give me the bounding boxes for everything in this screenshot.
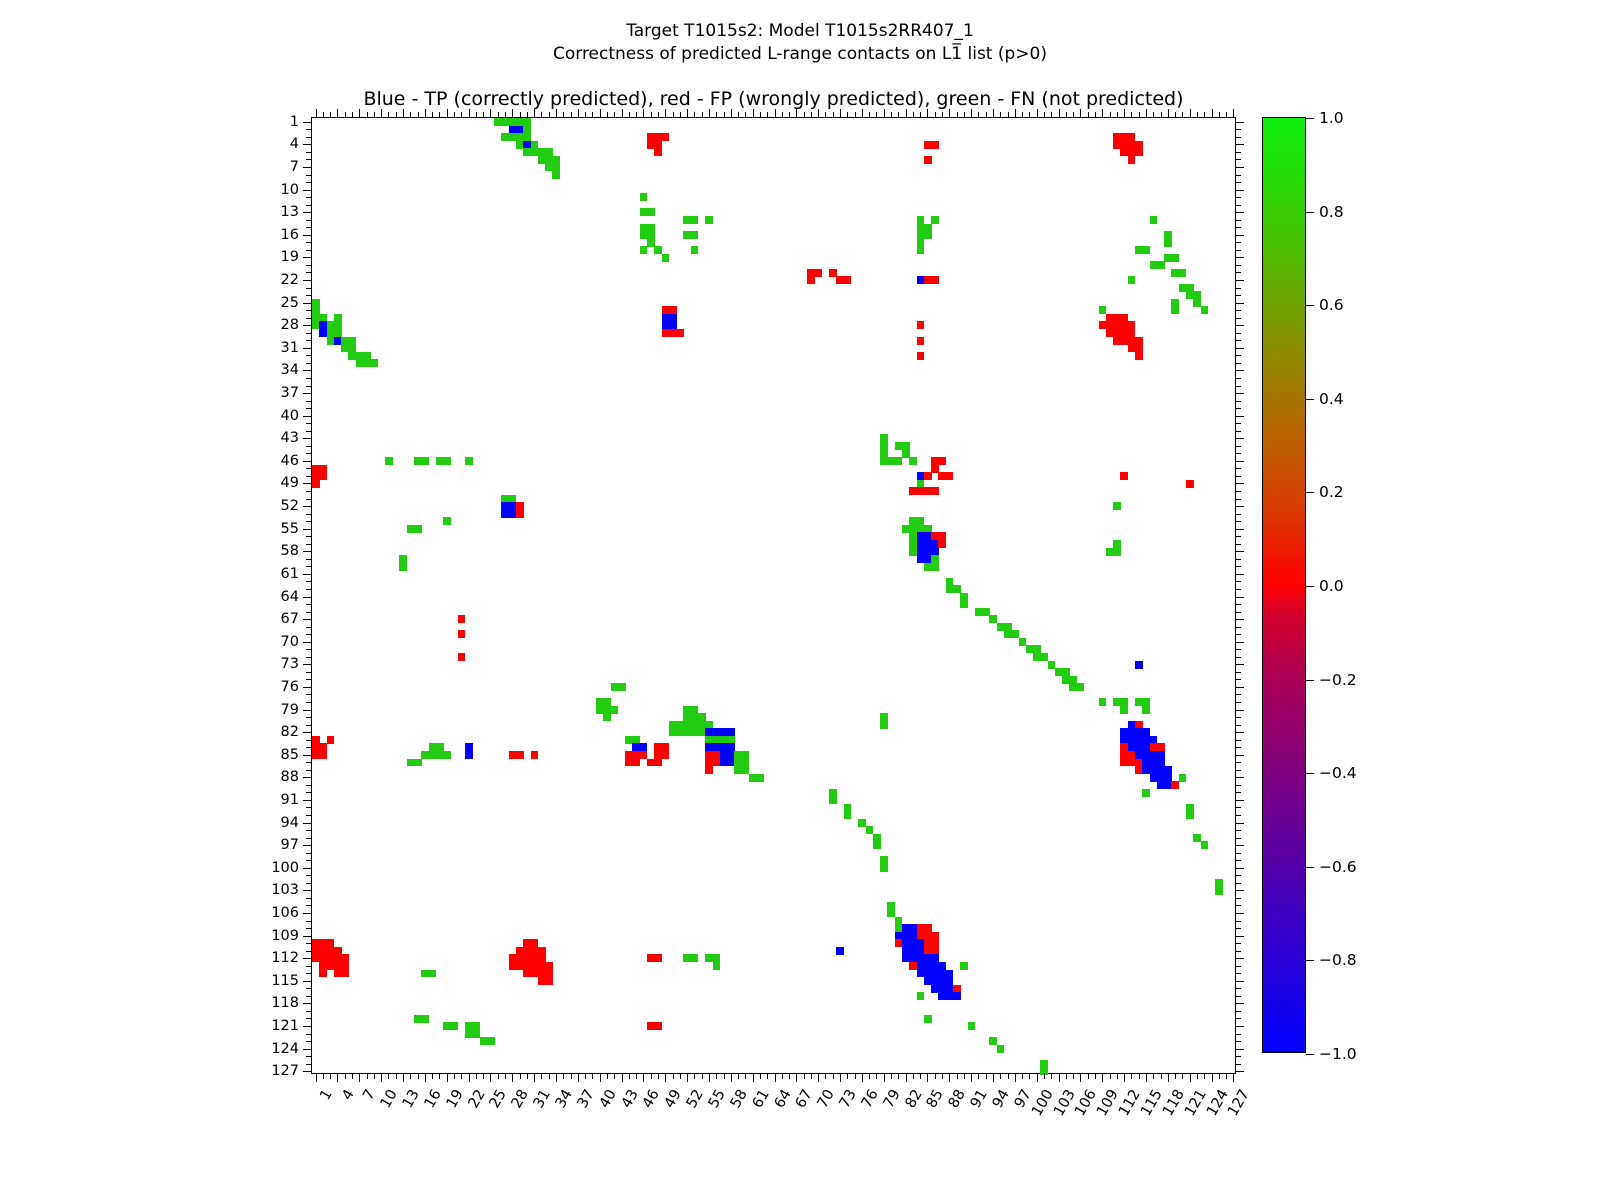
y-tick xyxy=(303,551,312,552)
y-tick-right xyxy=(1235,981,1244,982)
x-tick xyxy=(935,1073,936,1079)
x-tick xyxy=(775,1073,776,1082)
x-tick-top xyxy=(454,112,455,118)
fp-cell xyxy=(931,276,939,284)
fn-cell xyxy=(1142,789,1150,797)
y-tick-right xyxy=(1235,566,1241,567)
x-tick-top xyxy=(549,112,550,118)
fn-cell xyxy=(691,216,699,224)
fp-cell xyxy=(654,954,662,962)
y-tick-label: 112 xyxy=(229,950,299,966)
y-tick xyxy=(303,325,312,326)
fp-cell xyxy=(815,269,823,277)
x-tick-top xyxy=(1182,112,1183,118)
y-tick-right xyxy=(1235,235,1244,236)
x-tick-top xyxy=(1168,109,1169,118)
y-tick-right xyxy=(1235,845,1244,846)
x-tick xyxy=(636,1073,637,1079)
x-tick xyxy=(483,1073,484,1079)
x-tick xyxy=(1000,1073,1001,1079)
y-tick xyxy=(306,197,312,198)
fp-cell xyxy=(319,472,327,480)
y-tick-right xyxy=(1235,416,1244,417)
fp-cell xyxy=(917,321,925,329)
x-tick xyxy=(665,1073,666,1082)
x-tick xyxy=(964,1073,965,1079)
x-tick-top xyxy=(913,112,914,118)
y-tick-right xyxy=(1235,393,1244,394)
x-tick-top xyxy=(840,109,841,118)
y-tick-right xyxy=(1235,250,1241,251)
x-tick xyxy=(1066,1073,1067,1079)
y-tick xyxy=(303,416,312,417)
x-tick-top xyxy=(1037,109,1038,118)
x-tick xyxy=(709,1073,710,1082)
fn-cell xyxy=(1142,706,1150,714)
y-tick-right xyxy=(1235,167,1244,168)
y-tick xyxy=(303,1071,312,1072)
x-tick-top xyxy=(1212,109,1213,118)
x-tick-top xyxy=(432,112,433,118)
x-tick-top xyxy=(1088,112,1089,118)
y-tick-right xyxy=(1235,649,1241,650)
x-tick-top xyxy=(556,109,557,118)
y-tick-label: 58 xyxy=(229,543,299,559)
x-tick-top xyxy=(527,112,528,118)
y-tick xyxy=(306,491,312,492)
fp-cell xyxy=(516,751,524,759)
y-tick-label: 91 xyxy=(229,792,299,808)
y-tick-right xyxy=(1235,627,1241,628)
y-tick xyxy=(306,860,312,861)
x-tick xyxy=(345,1073,346,1079)
y-tick-label: 22 xyxy=(229,272,299,288)
y-tick-right xyxy=(1235,499,1241,500)
fp-cell xyxy=(1171,781,1179,789)
x-tick xyxy=(403,1073,404,1082)
x-tick xyxy=(986,1073,987,1079)
x-tick xyxy=(927,1073,928,1082)
x-tick-top xyxy=(745,112,746,118)
colorbar-tick-label: −0.4 xyxy=(1319,764,1357,782)
x-tick-top xyxy=(381,109,382,118)
x-tick-top xyxy=(1095,112,1096,118)
x-tick xyxy=(439,1073,440,1079)
y-tick xyxy=(306,559,312,560)
y-tick xyxy=(306,227,312,228)
y-tick xyxy=(306,453,312,454)
colorbar-tick xyxy=(1306,773,1314,774)
y-tick-right xyxy=(1235,597,1244,598)
fn-cell xyxy=(385,457,393,465)
y-tick-label: 82 xyxy=(229,724,299,740)
y-tick-label: 85 xyxy=(229,747,299,763)
colorbar-tick xyxy=(1306,399,1314,400)
x-tick-top xyxy=(927,109,928,118)
x-tick-top xyxy=(403,109,404,118)
colorbar-tick xyxy=(1306,118,1314,119)
fn-cell xyxy=(909,457,917,465)
x-tick xyxy=(454,1073,455,1079)
x-tick xyxy=(840,1073,841,1082)
tp-cell xyxy=(465,751,473,759)
x-tick xyxy=(818,1073,819,1082)
fp-cell xyxy=(938,540,946,548)
y-tick xyxy=(306,295,312,296)
y-tick xyxy=(306,853,312,854)
y-tick-right xyxy=(1235,928,1241,929)
fn-cell xyxy=(414,759,422,767)
y-tick-right xyxy=(1235,589,1241,590)
x-tick xyxy=(563,1073,564,1079)
x-tick xyxy=(855,1073,856,1079)
y-tick-label: 46 xyxy=(229,453,299,469)
y-tick xyxy=(303,144,312,145)
y-tick xyxy=(303,890,312,891)
x-tick-top xyxy=(1226,112,1227,118)
x-tick xyxy=(971,1073,972,1082)
y-tick xyxy=(303,823,312,824)
x-tick xyxy=(316,1073,317,1082)
fn-cell xyxy=(1179,269,1187,277)
tp-cell xyxy=(953,992,961,1000)
x-tick xyxy=(1219,1073,1220,1079)
fp-cell xyxy=(1120,472,1128,480)
x-tick-top xyxy=(673,112,674,118)
y-tick-right xyxy=(1235,1018,1241,1019)
y-tick-label: 61 xyxy=(229,566,299,582)
x-tick xyxy=(891,1073,892,1079)
colorbar-tick xyxy=(1306,492,1314,493)
x-tick xyxy=(898,1073,899,1079)
fn-cell xyxy=(1142,246,1150,254)
y-tick-right xyxy=(1235,551,1244,552)
fn-cell xyxy=(756,774,764,782)
y-tick-right xyxy=(1235,996,1241,997)
y-tick-right xyxy=(1235,830,1241,831)
x-tick xyxy=(1095,1073,1096,1079)
y-tick-right xyxy=(1235,1011,1241,1012)
x-tick xyxy=(1168,1073,1169,1082)
x-tick-top xyxy=(658,112,659,118)
x-tick-top xyxy=(884,109,885,118)
y-tick xyxy=(306,830,312,831)
x-tick xyxy=(716,1073,717,1079)
fn-cell xyxy=(443,751,451,759)
y-tick xyxy=(306,679,312,680)
y-tick-right xyxy=(1235,762,1241,763)
fn-cell xyxy=(429,970,437,978)
y-tick xyxy=(303,1003,312,1004)
x-tick xyxy=(447,1073,448,1082)
colorbar-tick-label: 0.6 xyxy=(1319,296,1344,314)
x-tick xyxy=(1029,1073,1030,1079)
fn-cell xyxy=(421,1015,429,1023)
fn-cell xyxy=(705,216,713,224)
y-tick-right xyxy=(1235,408,1241,409)
y-tick-right xyxy=(1235,823,1244,824)
x-tick-top xyxy=(1073,112,1074,118)
y-tick-label: 31 xyxy=(229,340,299,356)
y-tick-label: 88 xyxy=(229,769,299,785)
y-tick-right xyxy=(1235,401,1241,402)
fn-cell xyxy=(931,563,939,571)
fn-cell xyxy=(552,171,560,179)
x-tick-top xyxy=(760,112,761,118)
y-tick xyxy=(306,514,312,515)
fn-cell xyxy=(603,713,611,721)
x-tick xyxy=(629,1073,630,1079)
colorbar-tick xyxy=(1306,212,1314,213)
y-tick xyxy=(303,393,312,394)
fp-cell xyxy=(705,766,713,774)
y-tick-right xyxy=(1235,777,1244,778)
y-tick-label: 16 xyxy=(229,227,299,243)
y-tick xyxy=(303,370,312,371)
x-tick-top xyxy=(694,112,695,118)
y-tick xyxy=(306,725,312,726)
x-tick-top xyxy=(498,112,499,118)
y-tick xyxy=(306,431,312,432)
y-tick xyxy=(303,710,312,711)
y-tick-right xyxy=(1235,936,1244,937)
x-tick xyxy=(1153,1073,1154,1079)
y-tick-label: 106 xyxy=(229,905,299,921)
y-tick xyxy=(303,845,312,846)
x-tick xyxy=(942,1073,943,1079)
suptitle-line-2: Correctness of predicted L-range contact… xyxy=(0,43,1600,66)
y-tick-right xyxy=(1235,581,1241,582)
y-tick xyxy=(303,212,312,213)
x-tick xyxy=(869,1073,870,1079)
x-tick-top xyxy=(563,112,564,118)
colorbar-tick-label: −0.2 xyxy=(1319,671,1357,689)
x-tick-top xyxy=(614,112,615,118)
y-tick-right xyxy=(1235,853,1241,854)
y-tick-label: 73 xyxy=(229,656,299,672)
x-tick-top xyxy=(337,109,338,118)
y-tick xyxy=(306,966,312,967)
y-tick-label: 4 xyxy=(229,136,299,152)
y-tick xyxy=(306,928,312,929)
x-tick-top xyxy=(804,112,805,118)
y-tick-right xyxy=(1235,913,1244,914)
y-tick-right xyxy=(1235,740,1241,741)
fn-cell xyxy=(1113,548,1121,556)
x-tick xyxy=(789,1073,790,1079)
y-tick-right xyxy=(1235,506,1244,507)
y-tick xyxy=(303,280,312,281)
x-tick-top xyxy=(447,109,448,118)
y-tick-right xyxy=(1235,657,1241,658)
fp-cell xyxy=(807,276,815,284)
fn-cell xyxy=(421,457,429,465)
x-tick-top xyxy=(323,112,324,118)
x-tick xyxy=(1182,1073,1183,1079)
y-tick-right xyxy=(1235,152,1241,153)
figure-suptitle: Target T1015s2: Model T1015s2RR407_1 Cor… xyxy=(0,20,1600,66)
fn-cell xyxy=(1113,502,1121,510)
y-tick xyxy=(303,936,312,937)
fp-cell xyxy=(312,480,320,488)
y-tick-right xyxy=(1235,242,1241,243)
y-tick-right xyxy=(1235,386,1241,387)
y-tick-right xyxy=(1235,529,1244,530)
x-tick-top xyxy=(687,109,688,118)
x-tick xyxy=(352,1073,353,1079)
x-tick xyxy=(622,1073,623,1082)
colorbar[interactable]: 1.00.80.60.40.20.0−0.2−0.4−0.6−0.8−1.0 xyxy=(1262,117,1306,1053)
x-tick xyxy=(1051,1073,1052,1079)
x-tick xyxy=(432,1073,433,1079)
x-tick xyxy=(614,1073,615,1079)
y-tick-right xyxy=(1235,348,1244,349)
y-tick xyxy=(306,544,312,545)
y-tick-label: 70 xyxy=(229,634,299,650)
fp-cell xyxy=(458,615,466,623)
y-tick xyxy=(306,898,312,899)
x-tick-top xyxy=(607,112,608,118)
y-tick xyxy=(303,122,312,123)
x-tick-top xyxy=(461,112,462,118)
fp-cell xyxy=(924,472,932,480)
y-tick-right xyxy=(1235,710,1244,711)
fp-cell xyxy=(632,759,640,767)
y-tick-right xyxy=(1235,483,1244,484)
x-tick-top xyxy=(825,112,826,118)
y-tick-right xyxy=(1235,423,1241,424)
fp-cell xyxy=(931,487,939,495)
x-tick xyxy=(410,1073,411,1079)
y-tick-right xyxy=(1235,137,1241,138)
fp-cell xyxy=(917,352,925,360)
x-tick xyxy=(1204,1073,1205,1079)
y-tick-right xyxy=(1235,679,1241,680)
fn-cell xyxy=(960,600,968,608)
x-tick-top xyxy=(476,112,477,118)
fn-cell xyxy=(844,811,852,819)
y-tick xyxy=(306,205,312,206)
x-tick-top xyxy=(862,109,863,118)
x-tick xyxy=(476,1073,477,1079)
x-tick-top xyxy=(1051,112,1052,118)
y-tick-right xyxy=(1235,672,1241,673)
x-tick xyxy=(753,1073,754,1082)
x-tick-top xyxy=(541,112,542,118)
colorbar-tick xyxy=(1306,680,1314,681)
y-tick-right xyxy=(1235,144,1244,145)
y-tick xyxy=(306,634,312,635)
fp-cell xyxy=(917,337,925,345)
fn-cell xyxy=(662,254,670,262)
y-tick xyxy=(306,1034,312,1035)
x-tick xyxy=(1008,1073,1009,1079)
y-tick xyxy=(306,355,312,356)
y-tick-right xyxy=(1235,197,1241,198)
y-tick xyxy=(306,288,312,289)
fn-cell xyxy=(917,992,925,1000)
x-tick xyxy=(724,1073,725,1079)
x-tick-top xyxy=(316,109,317,118)
y-tick-right xyxy=(1235,634,1241,635)
x-tick xyxy=(876,1073,877,1079)
y-tick-right xyxy=(1235,129,1241,130)
y-tick-right xyxy=(1235,755,1244,756)
y-tick xyxy=(306,657,312,658)
y-tick xyxy=(303,777,312,778)
fp-cell xyxy=(654,1022,662,1030)
y-tick xyxy=(306,272,312,273)
x-tick-top xyxy=(971,109,972,118)
y-tick-right xyxy=(1235,378,1241,379)
y-tick-right xyxy=(1235,265,1241,266)
contact-map-plot[interactable]: 1471013161922252831343740434649525558616… xyxy=(311,117,1236,1074)
y-tick xyxy=(306,137,312,138)
x-tick-top xyxy=(1161,112,1162,118)
y-tick-right xyxy=(1235,642,1244,643)
y-tick-right xyxy=(1235,770,1241,771)
fn-cell xyxy=(1179,774,1187,782)
x-tick xyxy=(862,1073,863,1082)
y-tick xyxy=(303,1026,312,1027)
y-tick xyxy=(306,740,312,741)
y-tick xyxy=(306,129,312,130)
y-tick xyxy=(303,800,312,801)
fn-cell xyxy=(917,246,925,254)
fn-cell xyxy=(713,962,721,970)
y-tick xyxy=(306,996,312,997)
y-tick xyxy=(303,257,312,258)
x-tick xyxy=(592,1073,593,1079)
x-tick xyxy=(687,1073,688,1082)
x-tick-top xyxy=(1102,109,1103,118)
x-tick xyxy=(1190,1073,1191,1082)
y-tick xyxy=(306,905,312,906)
x-tick-top xyxy=(957,112,958,118)
y-tick xyxy=(306,943,312,944)
y-tick xyxy=(303,348,312,349)
x-tick-top xyxy=(1029,112,1030,118)
fp-cell xyxy=(1135,352,1143,360)
fn-cell xyxy=(931,216,939,224)
y-tick xyxy=(306,747,312,748)
y-tick xyxy=(306,770,312,771)
y-tick xyxy=(306,265,312,266)
x-tick-top xyxy=(600,109,601,118)
x-tick xyxy=(1044,1073,1045,1079)
x-tick xyxy=(847,1073,848,1079)
y-tick-right xyxy=(1235,815,1241,816)
colorbar-tick-label: 1.0 xyxy=(1319,109,1344,127)
x-tick-top xyxy=(512,109,513,118)
y-tick xyxy=(306,1041,312,1042)
fp-cell xyxy=(1128,156,1136,164)
y-tick-right xyxy=(1235,288,1241,289)
y-tick-label: 94 xyxy=(229,815,299,831)
fp-cell xyxy=(931,141,939,149)
x-tick xyxy=(825,1073,826,1079)
x-tick-top xyxy=(1059,109,1060,118)
fn-cell xyxy=(1077,683,1085,691)
y-tick xyxy=(306,566,312,567)
x-tick xyxy=(738,1073,739,1079)
x-tick-top xyxy=(1233,109,1234,118)
y-tick-right xyxy=(1235,1026,1244,1027)
y-tick-right xyxy=(1235,175,1241,176)
y-tick-right xyxy=(1235,702,1241,703)
x-tick xyxy=(957,1073,958,1079)
x-tick xyxy=(673,1073,674,1079)
